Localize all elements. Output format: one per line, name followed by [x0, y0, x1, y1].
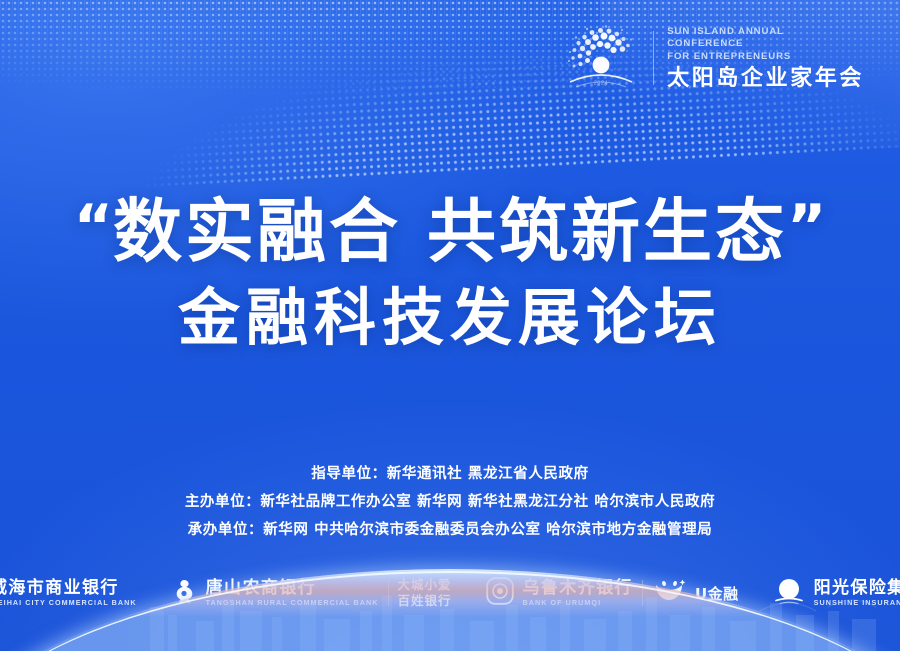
sponsor-bank-of-urumqi[interactable]: 乌鲁木齐银行 BANK OF URUMQI U金融: [469, 571, 756, 615]
u-finance-lockup: U金融: [652, 578, 739, 609]
sun-island-dots-icon: 2024: [562, 24, 640, 92]
sunshine-name-block: 阳光保险集团 SUNSHINE INSURANCE GROUP: [814, 580, 900, 606]
weihai-name-block: 威海市商业银行 WEIHAI CITY COMMERCIAL BANK: [0, 580, 137, 606]
tangshan-inner-divider: [388, 580, 389, 606]
quote-open: “: [74, 192, 113, 262]
main-title-part-1: 数实融合: [113, 192, 401, 272]
smiley-face-icon: [652, 578, 686, 609]
sponsor-tangshan-rural-commercial-bank[interactable]: 唐山农商银行 TANGSHAN RURAL COMMERCIAL BANK 大城…: [154, 571, 469, 615]
tangshan-tagline-line-2: 百姓银行: [398, 595, 452, 608]
tangshan-emblem-icon: [171, 577, 197, 610]
main-title: “数实融合共筑新生态”: [0, 196, 900, 269]
conference-logo: 2024 SUN ISLAND ANNUAL CONFERENCE FOR EN…: [562, 24, 864, 92]
sunshine-name-cn: 阳光保险集团: [814, 580, 900, 597]
organizer-credits: 指导单位：新华通讯社 黑龙江省人民政府 主办单位：新华社品牌工作办公室 新华网 …: [0, 462, 900, 539]
urumqi-primary: 乌鲁木齐银行 BANK OF URUMQI: [486, 577, 633, 610]
tangshan-name-cn: 唐山农商银行: [206, 580, 379, 597]
logo-text-block: SUN ISLAND ANNUAL CONFERENCE FOR ENTREPR…: [667, 26, 864, 90]
sponsor-sunshine-insurance-group[interactable]: 阳光保险集团 SUNSHINE INSURANCE GROUP: [756, 571, 900, 615]
main-title-part-2: 共筑新生态: [427, 192, 787, 272]
urumqi-name-en: BANK OF URUMQI: [523, 599, 633, 606]
tangshan-primary: 唐山农商银行 TANGSHAN RURAL COMMERCIAL BANK: [171, 577, 379, 610]
tangshan-name-block: 唐山农商银行 TANGSHAN RURAL COMMERCIAL BANK: [206, 580, 379, 606]
logo-divider: [653, 31, 654, 85]
tangshan-name-en: TANGSHAN RURAL COMMERCIAL BANK: [206, 599, 379, 606]
logo-english-name: SUN ISLAND ANNUAL CONFERENCE FOR ENTREPR…: [667, 26, 845, 63]
logo-year-label: 2024: [594, 81, 608, 87]
headline-block: “数实融合共筑新生态” 金融科技发展论坛: [0, 196, 900, 351]
sponsor-strip: 威海市商业银行 WEIHAI CITY COMMERCIAL BANK 唐山农商…: [0, 568, 900, 618]
logo-chinese-name: 太阳岛企业家年会: [667, 68, 864, 90]
weihai-name-en: WEIHAI CITY COMMERCIAL BANK: [0, 599, 137, 606]
urumqi-inner-divider: [642, 580, 643, 606]
credit-line-guidance: 指导单位：新华通讯社 黑龙江省人民政府: [311, 462, 588, 483]
logo-english-line-1: SUN ISLAND ANNUAL CONFERENCE: [667, 26, 845, 51]
conference-banner: 2024 SUN ISLAND ANNUAL CONFERENCE FOR EN…: [0, 0, 900, 651]
weihai-name-cn: 威海市商业银行: [0, 580, 137, 597]
urumqi-name-cn: 乌鲁木齐银行: [523, 580, 633, 597]
credit-line-host: 主办单位：新华社品牌工作办公室 新华网 新华社黑龙江分社 哈尔滨市人民政府: [185, 490, 715, 511]
u-finance-label: U金融: [695, 583, 739, 604]
sunshine-name-en: SUNSHINE INSURANCE GROUP: [814, 599, 900, 606]
logo-english-line-2: FOR ENTREPRENEURS: [667, 51, 845, 63]
sponsor-weihai-city-commercial-bank[interactable]: 威海市商业银行 WEIHAI CITY COMMERCIAL BANK: [0, 571, 154, 615]
tangshan-tagline: 大城小爱 百姓银行: [398, 579, 452, 607]
sunshine-sun-icon: [773, 576, 805, 611]
urumqi-target-icon: [486, 577, 514, 610]
forum-subtitle: 金融科技发展论坛: [0, 285, 900, 351]
credit-line-organizer: 承办单位：新华网 中共哈尔滨市委金融委员会办公室 哈尔滨市地方金融管理局: [188, 518, 713, 539]
quote-close: ”: [787, 192, 826, 262]
tangshan-tagline-line-1: 大城小爱: [398, 579, 452, 592]
urumqi-name-block: 乌鲁木齐银行 BANK OF URUMQI: [523, 580, 633, 606]
